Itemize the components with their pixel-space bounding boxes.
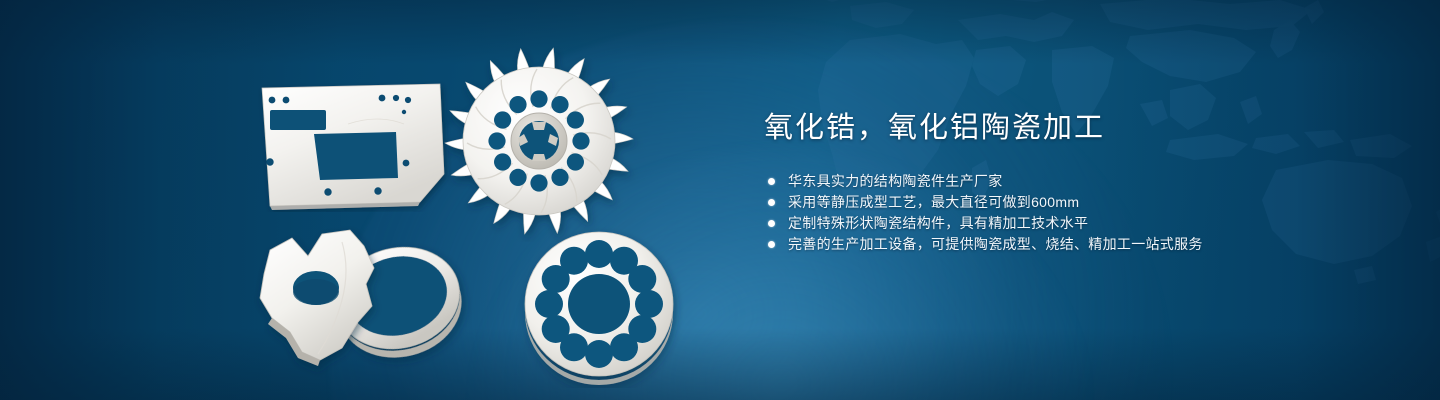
product-photo-group (0, 0, 760, 400)
hero-banner: 氧化锆，氧化铝陶瓷加工 华东具实力的结构陶瓷件生产厂家 采用等静压成型工艺，最大… (0, 0, 1440, 400)
ceramic-plate-image (248, 78, 454, 212)
ceramic-cross-and-ring-image (246, 222, 518, 382)
bullet-dot-icon (768, 220, 775, 227)
bullet-label-1: 华东具实力的结构陶瓷件生产厂家 (788, 173, 1003, 189)
bullet-label-4: 完善的生产加工设备，可提供陶瓷成型、烧结、精加工一站式服务 (788, 236, 1203, 252)
banner-copy: 氧化锆，氧化铝陶瓷加工 华东具实力的结构陶瓷件生产厂家 采用等静压成型工艺，最大… (764, 108, 1384, 255)
banner-bullet-list: 华东具实力的结构陶瓷件生产厂家 采用等静压成型工艺，最大直径可做到600mm 定… (764, 171, 1384, 255)
bullet-item-3: 定制特殊形状陶瓷结构件，具有精加工技术水平 (764, 213, 1384, 234)
ceramic-impeller-image (440, 42, 644, 242)
bullet-item-4: 完善的生产加工设备，可提供陶瓷成型、烧结、精加工一站式服务 (764, 234, 1384, 255)
bullet-dot-icon (768, 178, 775, 185)
bullet-label-2: 采用等静压成型工艺，最大直径可做到600mm (788, 194, 1079, 210)
bullet-dot-icon (768, 241, 775, 248)
bullet-item-2: 采用等静压成型工艺，最大直径可做到600mm (764, 192, 1384, 213)
bullet-item-1: 华东具实力的结构陶瓷件生产厂家 (764, 171, 1384, 192)
bullet-dot-icon (768, 199, 775, 206)
ceramic-hole-disc-image (515, 222, 687, 388)
bullet-label-3: 定制特殊形状陶瓷结构件，具有精加工技术水平 (788, 215, 1088, 231)
banner-headline: 氧化锆，氧化铝陶瓷加工 (764, 108, 1384, 148)
